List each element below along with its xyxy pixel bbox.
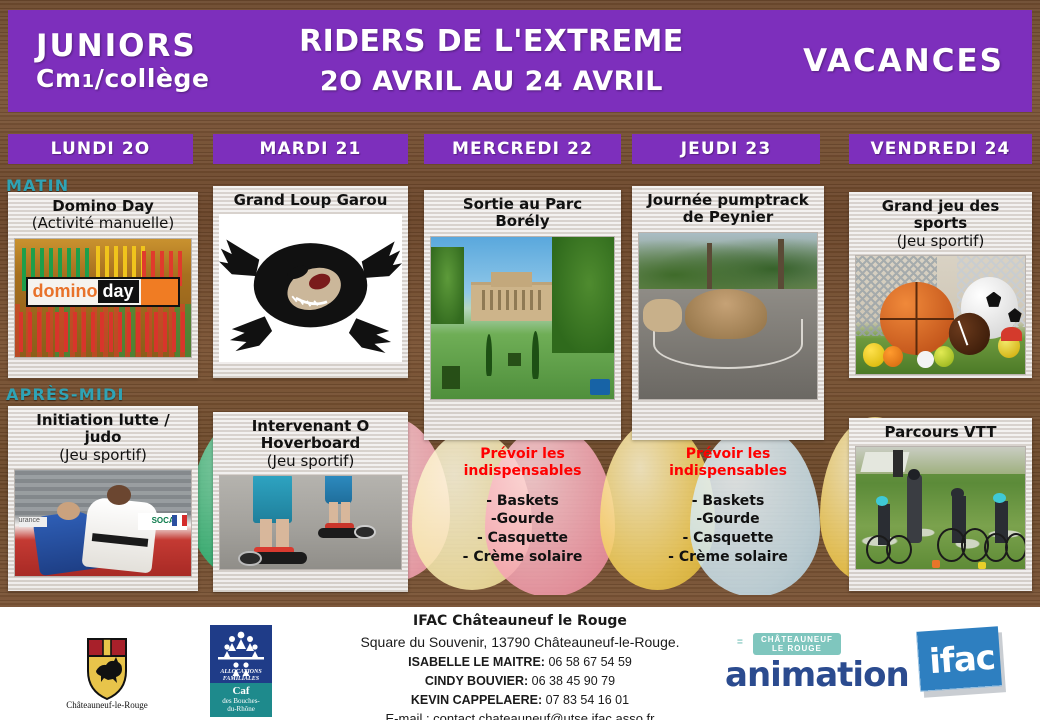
contact-phone: 06 38 45 90 79 <box>532 674 615 688</box>
footer-contact-row: KEVIN CAPPELAERE: 07 83 54 16 01 <box>270 691 770 710</box>
activity-card-jeudi-morning[interactable]: Journée pumptrack de Peynier <box>632 186 824 440</box>
werewolf-illustration <box>219 214 402 362</box>
judo-photo: SOCAR urance <box>14 469 192 577</box>
footer: IFAC Châteauneuf le Rouge Square du Souv… <box>0 607 1040 720</box>
crest-svg: Châteauneuf-le-Rouge <box>62 629 152 711</box>
banner-juniors-label: JUNIORS <box>36 30 210 63</box>
note-mercredi: Prévoir les indispensables - Baskets -Go… <box>424 446 621 567</box>
contact-name: KEVIN CAPPELAERE: <box>411 693 542 707</box>
footer-contact-block: IFAC Châteauneuf le Rouge Square du Souv… <box>270 611 770 720</box>
activity-title: Sortie au Parc Borély <box>424 196 621 231</box>
caf-line3: Caf <box>210 685 272 697</box>
activity-title: Initiation lutte / judo (Jeu sportif) <box>8 412 198 464</box>
note-item: -Gourde <box>632 510 824 529</box>
banner-title-group: RIDERS DE L'EXTREME 2O AVRIL AU 24 AVRIL <box>299 24 684 98</box>
note-jeudi: Prévoir les indispensables - Baskets -Go… <box>632 446 824 567</box>
chateauneuf-le-rouge-crest-logo: Châteauneuf-le-Rouge <box>62 629 152 711</box>
note-heading-line1: Prévoir les <box>424 446 621 463</box>
day-header-vendredi[interactable]: VENDREDI 24 <box>849 134 1032 164</box>
footer-email-row: E-mail : contact.chateauneuf@utse.ifac.a… <box>270 709 770 720</box>
day-header-mardi[interactable]: MARDI 21 <box>213 134 408 164</box>
note-heading-line2: indispensables <box>424 463 621 480</box>
activity-title-line1: Grand Loup Garou <box>234 191 388 209</box>
note-item: - Crème solaire <box>632 548 824 567</box>
activity-title: Grand Loup Garou <box>213 192 408 209</box>
activity-title-line2: de Peynier <box>683 208 773 226</box>
footer-contact-row: ISABELLE LE MAITRE: 06 58 67 54 59 <box>270 653 770 672</box>
note-item: - Casquette <box>632 529 824 548</box>
activity-title: Grand jeu des sports (Jeu sportif) <box>849 198 1032 250</box>
email-label: E-mail : <box>386 711 434 720</box>
sports-balls-photo <box>855 255 1026 375</box>
day-header-row: LUNDI 2O MARDI 21 MERCREDI 22 JEUDI 23 V… <box>0 134 1040 164</box>
activity-card-mardi-afternoon[interactable]: Intervenant O Hoverboard (Jeu sportif) <box>213 412 408 592</box>
note-item: - Casquette <box>424 529 621 548</box>
note-heading-line1: Prévoir les <box>632 446 824 463</box>
banner-title: RIDERS DE L'EXTREME <box>299 24 684 59</box>
note-heading-line2: indispensables <box>632 463 824 480</box>
banner-level-label: Cm1/collège <box>36 66 210 92</box>
contact-name: ISABELLE LE MAITRE: <box>408 655 545 669</box>
caf-line4: des Bouches- <box>210 697 272 705</box>
hoverboard-photo <box>219 475 402 570</box>
day-header-mercredi[interactable]: MERCREDI 22 <box>424 134 621 164</box>
activity-title-line1: Sortie au Parc <box>463 195 582 213</box>
activity-title: Domino Day (Activité manuelle) <box>8 198 198 233</box>
note-item: - Crème solaire <box>424 548 621 567</box>
activity-title-line2: Borély <box>495 212 549 230</box>
ifac-logo: ifac <box>918 629 1008 699</box>
banner-vacances-label: VACANCES <box>803 43 1004 79</box>
activity-title: Journée pumptrack de Peynier <box>632 192 824 227</box>
activity-title-line2: judo <box>85 428 122 446</box>
animation-line3: animation <box>725 655 909 695</box>
activity-title: Parcours VTT <box>849 424 1032 441</box>
pumptrack-photo <box>638 232 818 400</box>
note-item: -Gourde <box>424 510 621 529</box>
activity-card-lundi-morning[interactable]: Domino Day (Activité manuelle) domino da… <box>8 192 198 378</box>
activity-title-line2: Hoverboard <box>261 434 361 452</box>
activity-title-line1: Intervenant O <box>252 417 370 435</box>
header-banner: JUNIORS Cm1/collège RIDERS DE L'EXTREME … <box>8 10 1032 112</box>
email-link[interactable]: contact.chateauneuf@utse.ifac.asso.fr <box>433 711 654 720</box>
activity-card-vendredi-morning[interactable]: Grand jeu des sports (Jeu sportif) <box>849 192 1032 378</box>
werewolf-svg <box>219 214 402 362</box>
activity-subtitle: (Jeu sportif) <box>217 453 404 470</box>
mtb-photo <box>855 446 1026 570</box>
banner-level-post: /collège <box>95 64 210 93</box>
activity-subtitle: (Jeu sportif) <box>12 447 194 464</box>
activity-card-vendredi-afternoon[interactable]: Parcours VTT <box>849 418 1032 591</box>
banner-dates: 2O AVRIL AU 24 AVRIL <box>299 66 684 98</box>
footer-org-name: IFAC Châteauneuf le Rouge <box>270 611 770 632</box>
activity-card-lundi-afternoon[interactable]: Initiation lutte / judo (Jeu sportif) SO… <box>8 406 198 591</box>
banner-level-pre: Cm <box>36 64 82 93</box>
caf-bouches-du-rhone-logo: ALLOCATIONS FAMILIALES Caf des Bouches- … <box>210 625 272 717</box>
animation-line2: LE ROUGE <box>761 644 833 653</box>
domino-day-photo: domino day <box>14 238 192 358</box>
activity-card-mardi-morning[interactable]: Grand Loup Garou <box>213 186 408 378</box>
day-header-jeudi[interactable]: JEUDI 23 <box>632 134 820 164</box>
crest-caption: Châteauneuf-le-Rouge <box>66 700 147 710</box>
activity-title-line1: Grand jeu des sports <box>882 197 1000 232</box>
activity-title-line1: Journée pumptrack <box>647 191 809 209</box>
footer-contact-row: CINDY BOUVIER: 06 38 45 90 79 <box>270 672 770 691</box>
banner-level-num: 1 <box>82 71 95 92</box>
period-label-afternoon: APRÈS-MIDI <box>6 385 125 404</box>
caf-line1: ALLOCATIONS <box>210 669 272 675</box>
chateauneuf-animation-logo: CHÂTEAUNEUF LE ROUGE = animation <box>725 633 905 693</box>
contact-phone: 06 58 67 54 59 <box>548 655 631 669</box>
caf-line2: FAMILIALES <box>210 676 272 682</box>
activity-subtitle: (Activité manuelle) <box>12 215 194 232</box>
footer-address: Square du Souvenir, 13790 Châteauneuf-le… <box>270 632 770 653</box>
day-header-lundi[interactable]: LUNDI 2O <box>8 134 193 164</box>
animation-line1: CHÂTEAUNEUF <box>761 635 833 644</box>
activity-title: Intervenant O Hoverboard (Jeu sportif) <box>213 418 408 470</box>
note-item: - Baskets <box>424 492 621 511</box>
caf-line5: du-Rhône <box>210 705 272 713</box>
banner-left-group: JUNIORS Cm1/collège <box>36 30 210 92</box>
activity-card-mercredi-morning[interactable]: Sortie au Parc Borély <box>424 190 621 440</box>
activity-subtitle: (Jeu sportif) <box>853 233 1028 250</box>
contact-name: CINDY BOUVIER: <box>425 674 528 688</box>
activity-title-line1: Initiation lutte / <box>36 411 169 429</box>
borely-park-photo <box>430 236 615 400</box>
ifac-text: ifac <box>924 635 999 686</box>
activity-title-line1: Domino Day <box>52 197 154 215</box>
contact-phone: 07 83 54 16 01 <box>546 693 629 707</box>
activity-title-line1: Parcours VTT <box>885 423 997 441</box>
note-item: - Baskets <box>632 492 824 511</box>
